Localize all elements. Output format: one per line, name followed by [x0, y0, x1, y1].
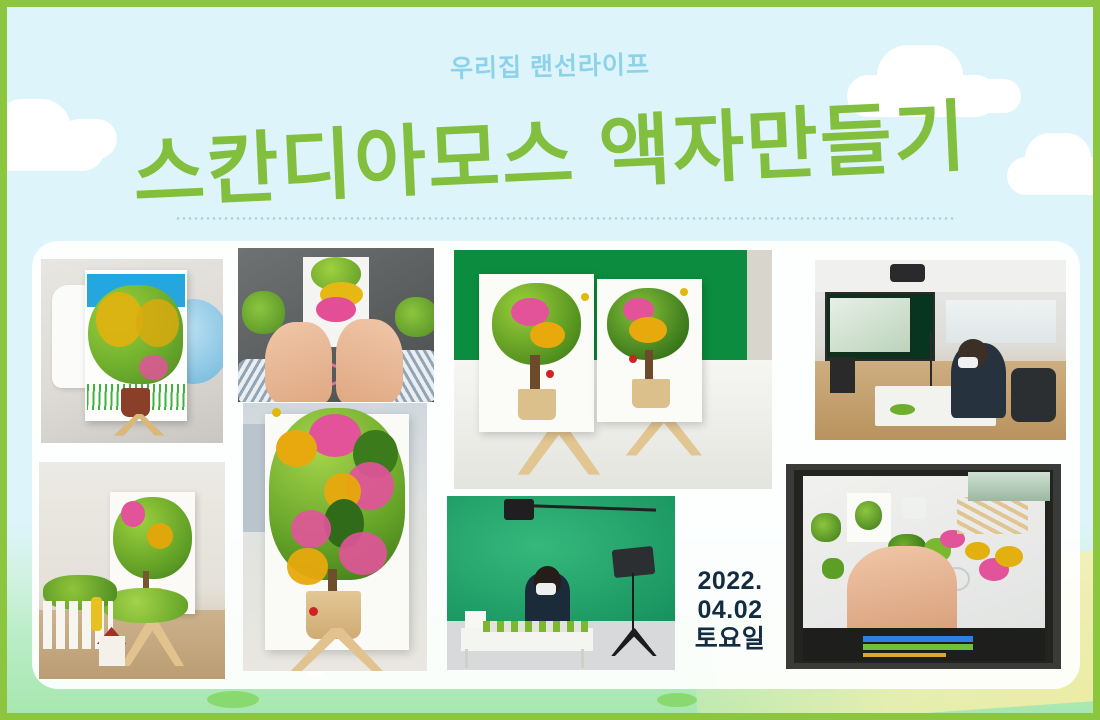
photo-fence-easel-display[interactable]: 울타리와 집 소품이 있는 이젤 전시: [39, 462, 225, 679]
date-year: 2022.: [675, 567, 785, 596]
sky-background: 우리집 랜선라이프 스칸디아모스 액자만들기 스칸디아모스 나무 액자 - 파란: [7, 7, 1093, 713]
dotted-divider: [175, 217, 957, 220]
photo-classroom-monitor[interactable]: 대형 모니터가 있는 강의실 온라인 수업: [815, 260, 1066, 440]
photo-moss-frame-blue-sky[interactable]: 스칸디아모스 나무 액자 - 파란 하늘과 잔디 그림 배경: [41, 259, 223, 443]
date-weekday: 토요일: [675, 625, 785, 654]
photo-tall-pink-moss-canvas[interactable]: 분홍 노랑 이끼가 가득한 세로 액자: [243, 403, 427, 671]
poster-title: 스칸디아모스 액자만들기: [7, 68, 1093, 229]
photo-child-hands-crafting[interactable]: 아이 손으로 이끼를 붙이는 모습: [238, 248, 434, 402]
photo-two-canvases-easels[interactable]: 그린스크린 앞 이젤 위 완성 액자 두 개: [454, 250, 772, 489]
grass-dot: [657, 693, 697, 707]
date-month-day: 04.02: [675, 596, 785, 625]
event-date-block: 2022. 04.02 토요일: [675, 567, 785, 654]
grass-dot: [207, 691, 259, 708]
photo-studio-green-screen[interactable]: 그린스크린 스튜디오 강사 촬영 현장: [447, 496, 675, 670]
poster-root: 우리집 랜선라이프 스칸디아모스 액자만들기 스칸디아모스 나무 액자 - 파란: [0, 0, 1100, 720]
photo-monitor-topdown-demo[interactable]: 모니터 속 탑다운 제작 시연 화면: [786, 464, 1061, 669]
